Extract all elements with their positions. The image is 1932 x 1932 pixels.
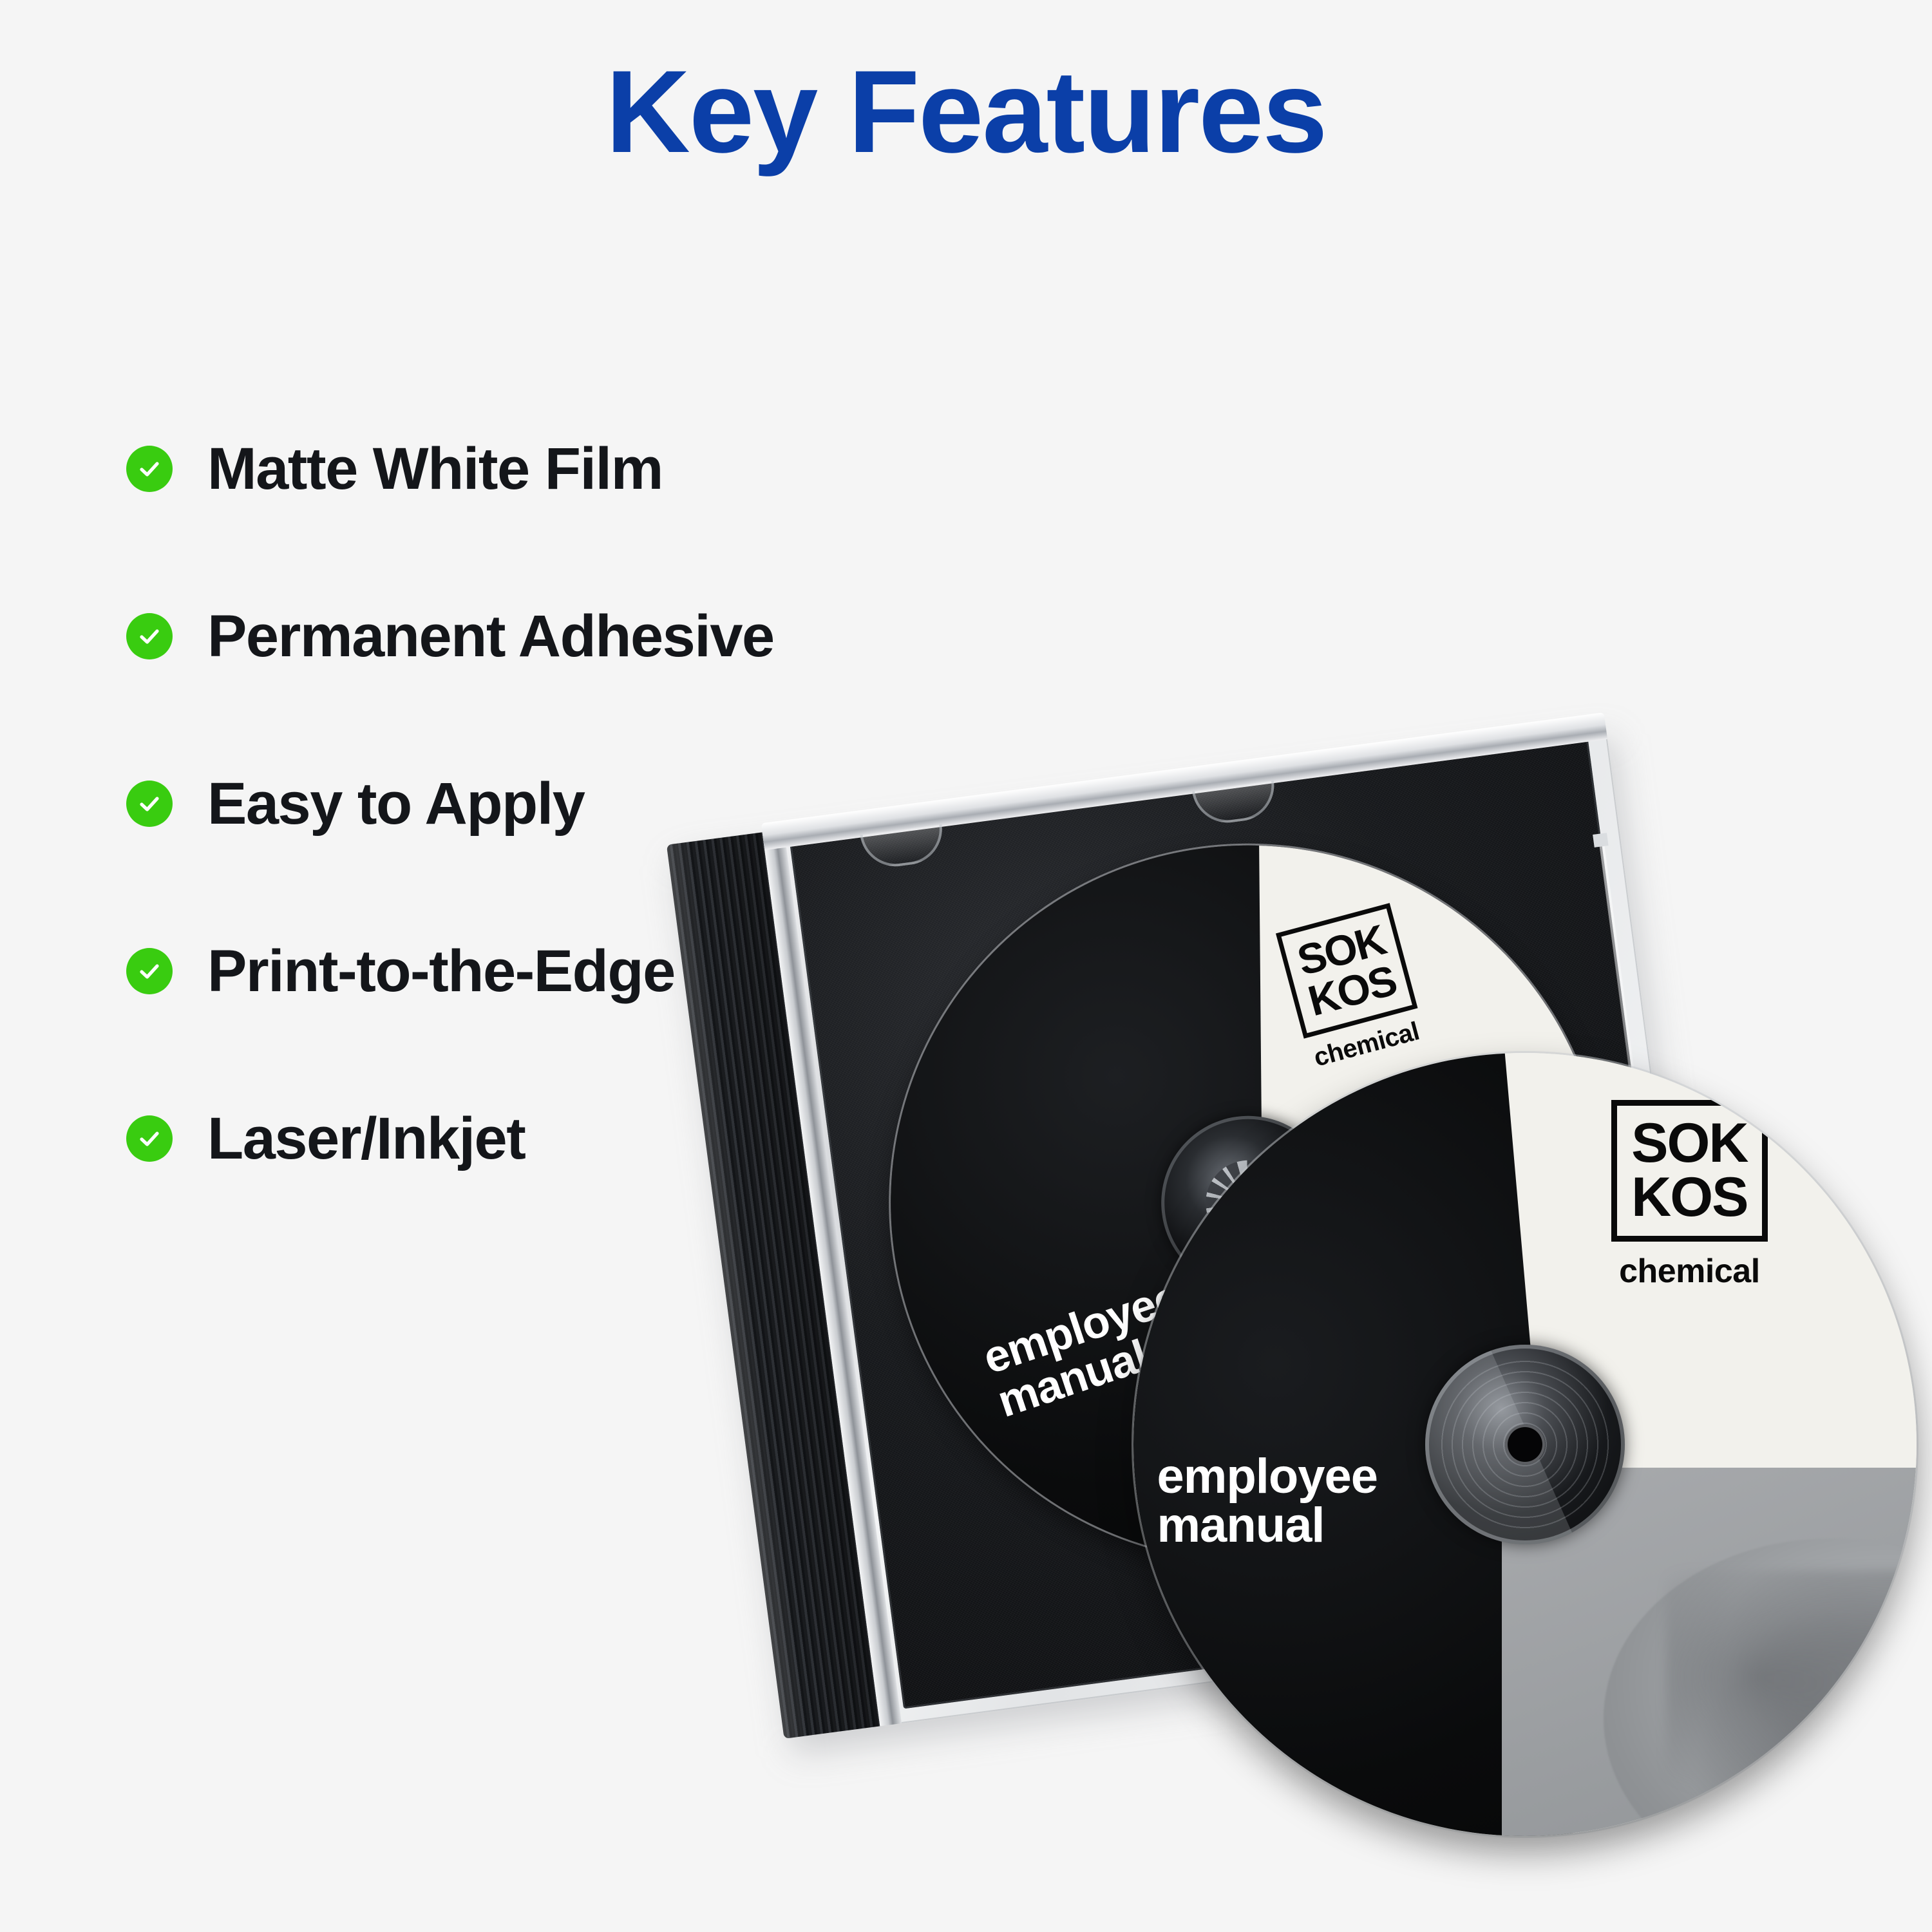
brand-subtitle: chemical [1540, 1252, 1838, 1291]
disc-title-line-2: manual [1157, 1501, 1378, 1550]
check-circle-icon [126, 446, 173, 492]
disc-title-line-1: employee [1157, 1452, 1378, 1501]
disc-front-hub [1425, 1345, 1625, 1544]
page-title: Key Features [0, 50, 1932, 173]
product-photo: SOK KOS chemical employee manual [683, 760, 1932, 1932]
list-item: Matte White Film [126, 433, 899, 505]
check-circle-icon [126, 613, 173, 659]
list-item: Permanent Adhesive [126, 600, 899, 672]
feature-label: Matte White Film [207, 435, 663, 503]
disc-front-title: employee manual [1157, 1452, 1378, 1550]
disc-front-gray-photo-detail [1666, 1570, 1917, 1836]
brand-line-2: KOS [1631, 1170, 1747, 1224]
disc-front-brand-logo: SOK KOS chemical [1540, 1100, 1838, 1291]
brand-line-1: SOK [1631, 1116, 1747, 1170]
feature-label: Easy to Apply [207, 770, 584, 838]
case-rail-cap-top [1593, 833, 1608, 848]
key-features-slide: Key Features Matte White Film Permanent … [0, 0, 1932, 1932]
feature-label: Laser/Inkjet [207, 1105, 525, 1173]
disc-front-center-hole [1505, 1425, 1545, 1464]
cd-disc-front: SOK KOS chemical employee manual [1133, 1053, 1917, 1836]
check-circle-icon [126, 948, 173, 994]
feature-label: Print-to-the-Edge [207, 938, 675, 1005]
brand-logo-box: SOK KOS [1611, 1100, 1767, 1242]
check-circle-icon [126, 781, 173, 827]
check-circle-icon [126, 1115, 173, 1162]
feature-label: Permanent Adhesive [207, 603, 774, 670]
